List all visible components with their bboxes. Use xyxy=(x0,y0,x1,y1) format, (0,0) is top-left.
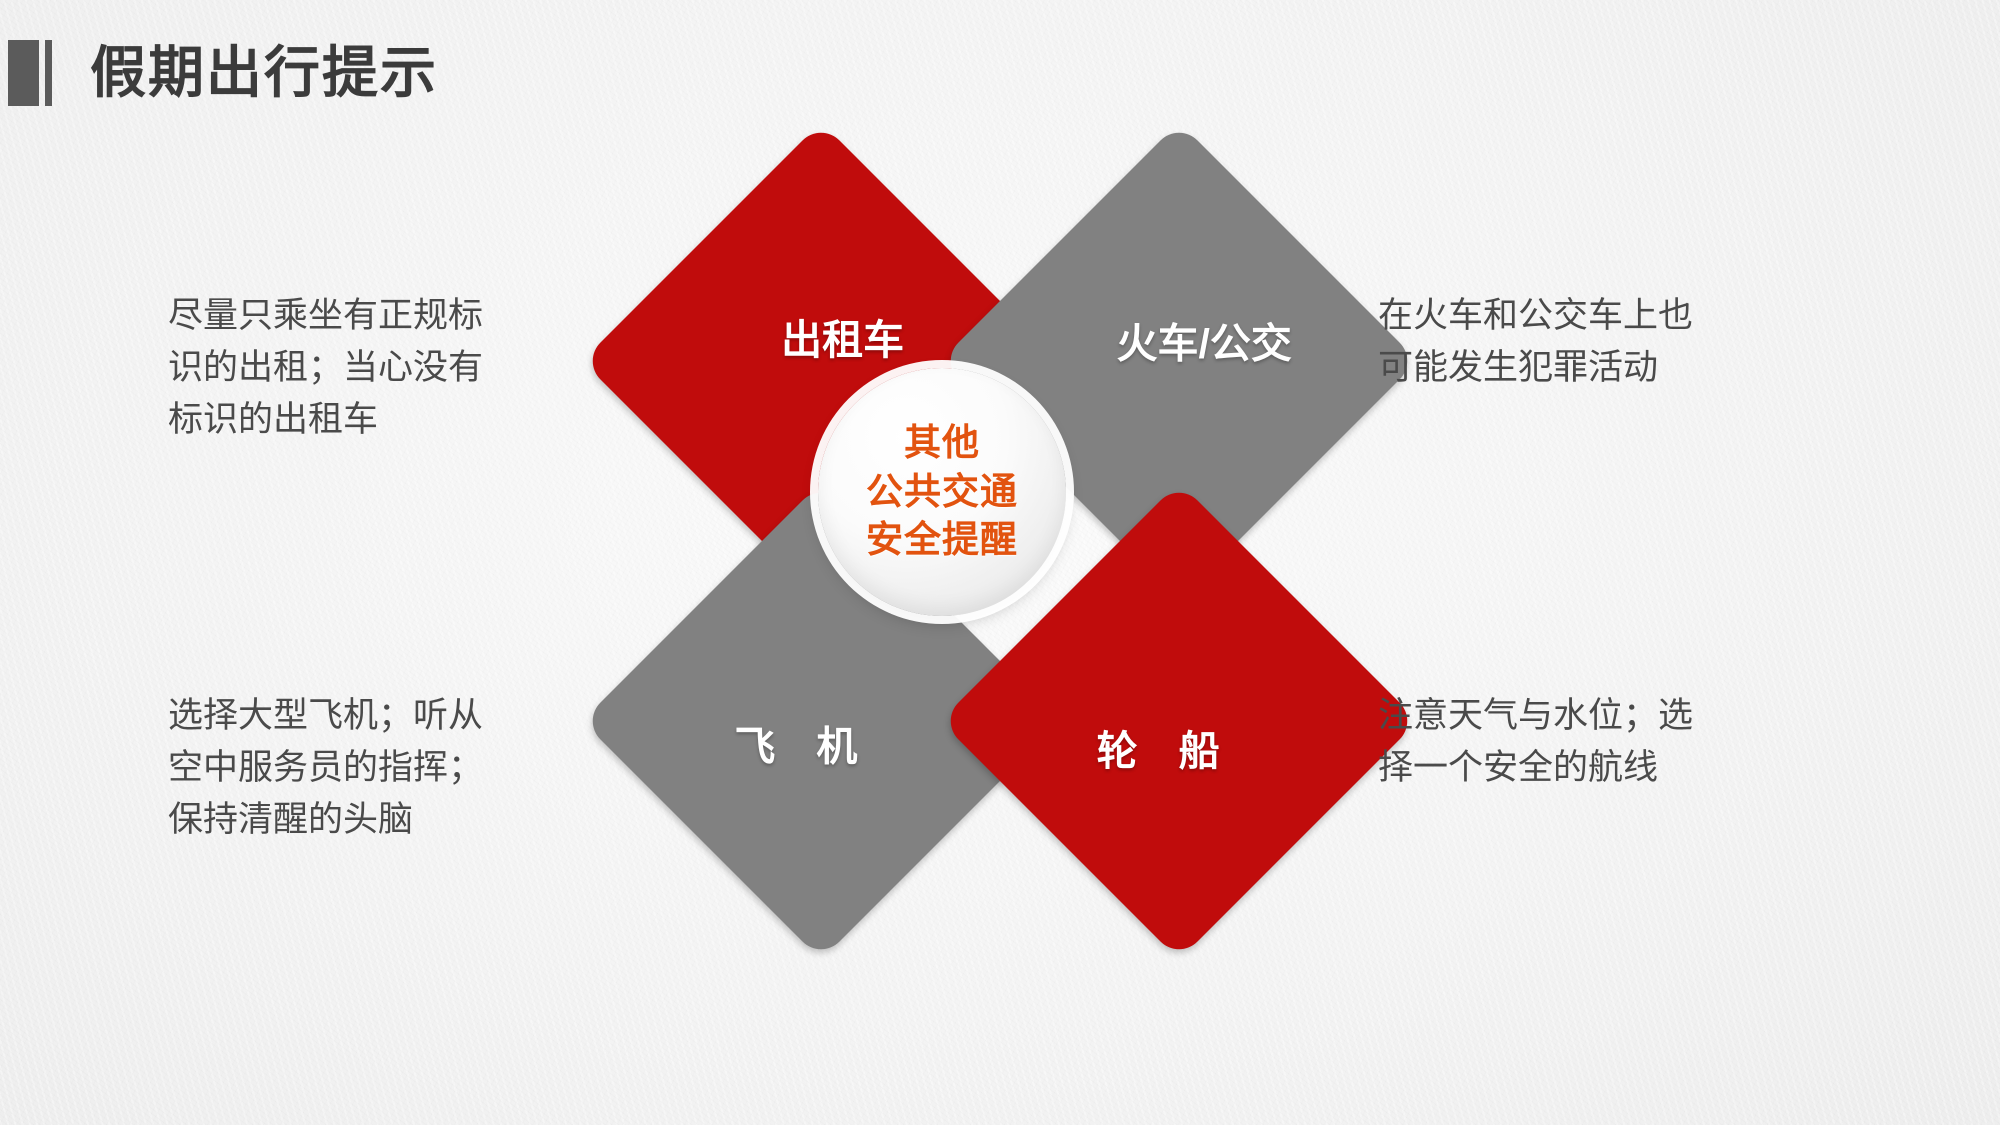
slide-canvas: 假期出行提示 出租车 火车/公交 飞 机 轮 船 其他 公共交通 安全提醒 尽量… xyxy=(0,0,2000,1125)
accent-line-icon xyxy=(45,40,52,106)
slide-header: 假期出行提示 xyxy=(0,30,438,116)
diamond-label-train-bus: 火车/公交 xyxy=(1117,310,1292,370)
center-line-2: 公共交通 xyxy=(866,468,1018,517)
center-line-1: 其他 xyxy=(904,419,980,468)
center-line-3: 安全提醒 xyxy=(866,516,1018,565)
callout-ship: 注意天气与水位；选 择一个安全的航线 xyxy=(1378,690,1818,794)
diamond-label-airplane: 飞 机 xyxy=(734,712,857,772)
callout-train-bus: 在火车和公交车上也 可能发生犯罪活动 xyxy=(1378,290,1818,394)
center-circle[interactable]: 其他 公共交通 安全提醒 xyxy=(818,368,1066,616)
transport-safety-diagram: 出租车 火车/公交 飞 机 轮 船 其他 公共交通 安全提醒 xyxy=(628,170,1372,914)
accent-block-icon xyxy=(8,40,39,106)
page-title: 假期出行提示 xyxy=(90,45,438,101)
callout-taxi: 尽量只乘坐有正规标 识的出租；当心没有 标识的出租车 xyxy=(168,290,588,445)
diamond-label-ship: 轮 船 xyxy=(1096,716,1219,776)
callout-airplane: 选择大型飞机；听从 空中服务员的指挥； 保持清醒的头脑 xyxy=(168,690,598,845)
title-accent-bar xyxy=(8,40,52,106)
diamond-label-taxi: 出租车 xyxy=(781,306,904,366)
